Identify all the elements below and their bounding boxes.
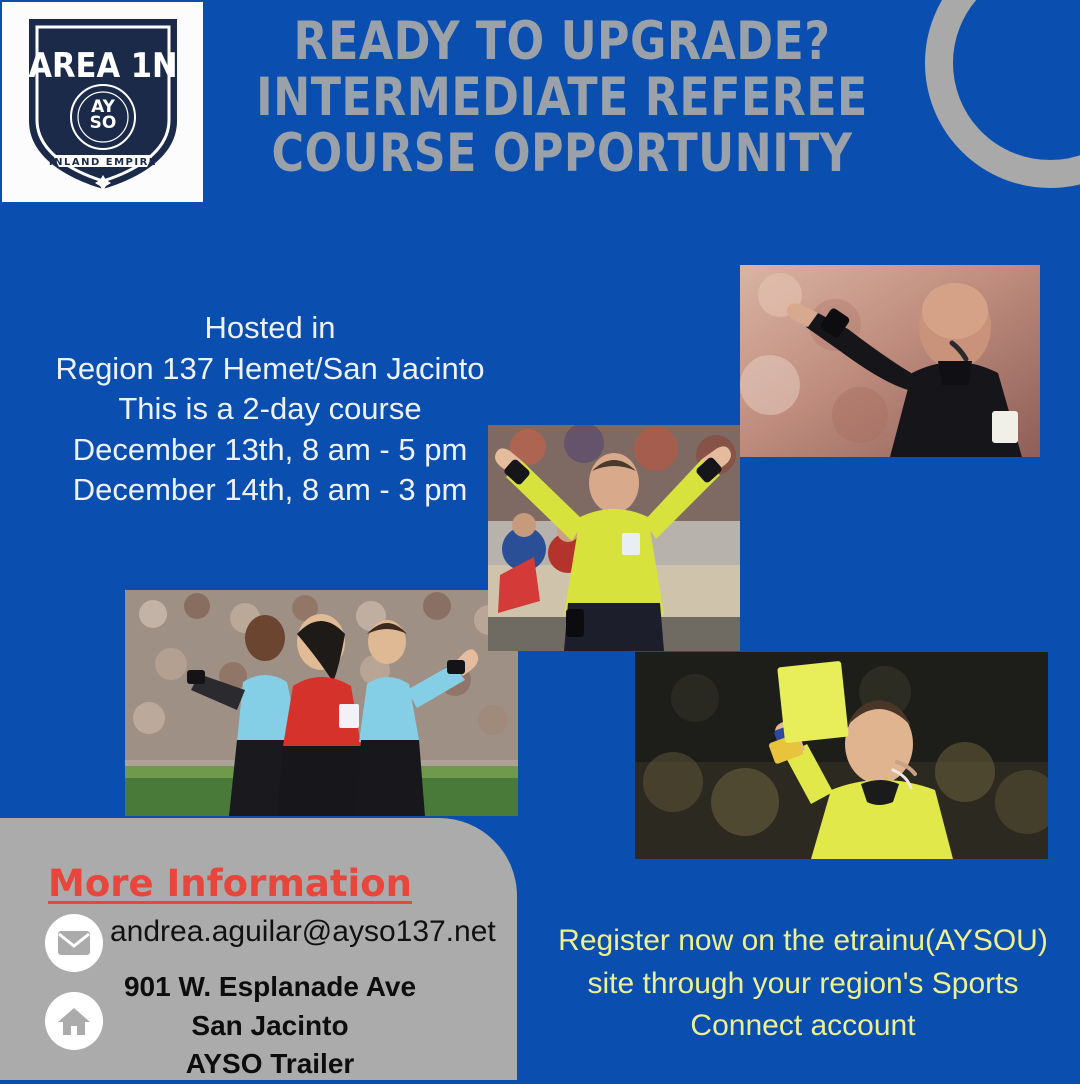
address-line-3: AYSO Trailer: [60, 1045, 480, 1084]
shield-logo-graphic: AREA 1N AY SO INLAND EMPIRE: [19, 9, 187, 195]
details-line-duration: This is a 2-day course: [30, 389, 510, 430]
headline-line-1: Ready to Upgrade?: [246, 14, 878, 70]
photo-female-crew: [125, 590, 518, 816]
svg-text:SO: SO: [89, 113, 116, 133]
photo-yellow-card: [635, 652, 1048, 859]
details-line-region: Region 137 Hemet/San Jacinto: [30, 349, 510, 390]
svg-text:INLAND EMPIRE: INLAND EMPIRE: [48, 157, 156, 168]
page-title: Ready to Upgrade? Intermediate Referee C…: [246, 14, 878, 183]
details-line-date-1: December 13th, 8 am - 5 pm: [30, 430, 510, 471]
svg-text:AREA 1N: AREA 1N: [28, 46, 177, 86]
register-instructions: Register now on the etrainu(AYSOU) site …: [533, 920, 1073, 1048]
course-details: Hosted in Region 137 Hemet/San Jacinto T…: [30, 308, 510, 511]
headline-line-3: Course Opportunity: [246, 126, 878, 182]
register-line-3: Connect account: [533, 1005, 1073, 1048]
mail-icon-glyph: [57, 930, 91, 956]
mail-icon[interactable]: [45, 914, 103, 972]
contact-email[interactable]: andrea.aguilar@ayso137.net: [110, 915, 496, 949]
more-information-heading: More Information: [0, 862, 460, 905]
register-line-1: Register now on the etrainu(AYSOU): [533, 920, 1073, 963]
details-line-date-2: December 14th, 8 am - 3 pm: [30, 470, 510, 511]
register-line-2: site through your region's Sports: [533, 963, 1073, 1006]
details-line-hosted: Hosted in: [30, 308, 510, 349]
headline-line-2: Intermediate Referee: [246, 70, 878, 126]
contact-address: 901 W. Esplanade Ave San Jacinto AYSO Tr…: [60, 968, 480, 1084]
address-line-2: San Jacinto: [60, 1007, 480, 1046]
decorative-ring-shape: [925, 0, 1080, 188]
photo-arms-out: [488, 425, 740, 651]
photo-collina: [740, 265, 1040, 457]
address-line-1: 901 W. Esplanade Ave: [60, 968, 480, 1007]
area-1n-logo: AREA 1N AY SO INLAND EMPIRE: [2, 2, 203, 202]
